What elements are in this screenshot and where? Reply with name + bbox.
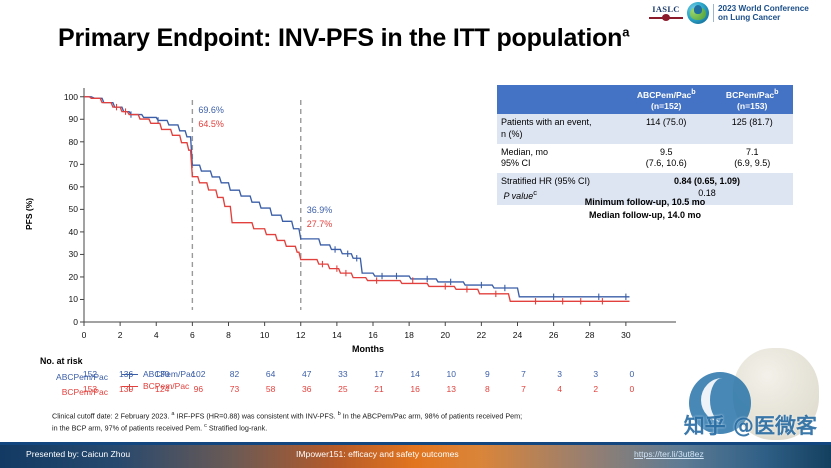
- risk-value: 14: [406, 369, 424, 379]
- header-col-bcpem-sup: b: [774, 88, 778, 96]
- presenter-name: Presented by: Caicun Zhou: [26, 449, 130, 459]
- row-label-median-l1: Median, mo: [501, 147, 548, 157]
- risk-value: 4: [551, 384, 569, 394]
- y-tick-70: 70: [56, 159, 78, 169]
- risk-value: 124: [153, 384, 171, 394]
- session-link[interactable]: https://ter.li/3ut8ez: [634, 449, 704, 459]
- risk-value: 21: [370, 384, 388, 394]
- x-tick-14: 14: [329, 330, 345, 340]
- risk-value: 102: [189, 369, 207, 379]
- row-median-bcpem-ci: (6.9, 9.5): [734, 158, 770, 168]
- y-tick-0: 0: [56, 317, 78, 327]
- risk-value: 8: [478, 384, 496, 394]
- y-tick-20: 20: [56, 272, 78, 282]
- risk-table-title: No. at risk: [40, 356, 740, 366]
- risk-row-label-abcpem: ABCPem/Pac: [40, 372, 114, 382]
- risk-value: 25: [334, 384, 352, 394]
- risk-value: 2: [587, 384, 605, 394]
- risk-value: 10: [442, 369, 460, 379]
- risk-value: 139: [117, 384, 135, 394]
- y-tick-50: 50: [56, 204, 78, 214]
- risk-value: 9: [478, 369, 496, 379]
- x-tick-4: 4: [148, 330, 164, 340]
- row-label-median: Median, mo 95% CI: [497, 144, 621, 173]
- x-tick-28: 28: [582, 330, 598, 340]
- y-tick-40: 40: [56, 227, 78, 237]
- table-row-events: Patients with an event, n (%) 114 (75.0)…: [497, 114, 793, 143]
- y-axis-label: PFS (%): [24, 198, 34, 230]
- y-tick-30: 30: [56, 249, 78, 259]
- risk-value: 36: [298, 384, 316, 394]
- x-tick-24: 24: [510, 330, 526, 340]
- x-tick-30: 30: [618, 330, 634, 340]
- efficacy-summary-table: ABCPem/Pacb (n=152) BCPem/Pacb (n=153) P…: [497, 85, 793, 205]
- row-label-events-l2: n (%): [501, 129, 523, 139]
- y-tick-60: 60: [56, 182, 78, 192]
- risk-value: 73: [226, 384, 244, 394]
- risk-value: 47: [298, 369, 316, 379]
- x-tick-26: 26: [546, 330, 562, 340]
- header-col-abcpem: ABCPem/Pacb (n=152): [621, 85, 711, 114]
- risk-value: 0: [623, 369, 641, 379]
- footnote-logrank: Stratified log-rank.: [207, 424, 267, 433]
- annotation-12mo-abcpem: 36.9%: [307, 205, 333, 215]
- risk-values-abcpem: 1521361301028264473317141097330: [114, 369, 740, 384]
- risk-value: 7: [515, 369, 533, 379]
- logo-divider: [713, 4, 714, 22]
- risk-row-bcpem: BCPem/Pac 153139124967358362521161387420: [40, 384, 740, 399]
- row-median-bcpem: 7.1 (6.9, 9.5): [711, 144, 793, 173]
- row-median-bcpem-v: 7.1: [746, 147, 759, 157]
- risk-value: 82: [226, 369, 244, 379]
- median-followup: Median follow-up, 14.0 mo: [497, 209, 793, 222]
- x-tick-20: 20: [437, 330, 453, 340]
- risk-value: 3: [551, 369, 569, 379]
- x-tick-18: 18: [401, 330, 417, 340]
- header-blank: [497, 85, 621, 114]
- risk-value: 0: [623, 384, 641, 394]
- risk-value: 13: [442, 384, 460, 394]
- row-label-events-l1: Patients with an event,: [501, 117, 592, 127]
- x-tick-8: 8: [221, 330, 237, 340]
- y-tick-80: 80: [56, 137, 78, 147]
- risk-value: 33: [334, 369, 352, 379]
- slide-root: IASLC 2023 World Conference on Lung Canc…: [0, 0, 831, 468]
- footnote-irf: IRF-PFS (HR=0.88) was consistent with IN…: [174, 411, 337, 420]
- risk-values-bcpem: 153139124967358362521161387420: [114, 384, 740, 399]
- session-title: IMpower151: efficacy and safety outcomes: [296, 449, 459, 459]
- number-at-risk-table: No. at risk ABCPem/Pac 15213613010282644…: [40, 356, 740, 399]
- x-tick-16: 16: [365, 330, 381, 340]
- row-events-abcpem: 114 (75.0): [621, 114, 711, 143]
- page-title-text: Primary Endpoint: INV-PFS in the ITT pop…: [58, 24, 622, 52]
- risk-value: 16: [406, 384, 424, 394]
- risk-value: 96: [189, 384, 207, 394]
- risk-value: 17: [370, 369, 388, 379]
- conference-logo-bar: IASLC 2023 World Conference on Lung Canc…: [645, 0, 831, 26]
- row-median-abcpem: 9.5 (7.6, 10.6): [621, 144, 711, 173]
- row-median-abcpem-v: 9.5: [660, 147, 673, 157]
- risk-value: 136: [117, 369, 135, 379]
- row-label-median-l2: 95% CI: [501, 158, 531, 168]
- risk-value: 3: [587, 369, 605, 379]
- slide-footer-bar: Presented by: Caicun Zhou IMpower151: ef…: [0, 442, 831, 468]
- x-axis-label: Months: [352, 344, 384, 354]
- followup-info: Minimum follow-up, 10.5 mo Median follow…: [497, 196, 793, 222]
- risk-value: 130: [153, 369, 171, 379]
- header-col-abcpem-sup: b: [691, 88, 695, 96]
- conference-line-1: 2023 World Conference: [718, 4, 809, 13]
- header-col-bcpem-name: BCPem/Pac: [726, 90, 774, 100]
- x-tick-6: 6: [184, 330, 200, 340]
- x-tick-10: 10: [257, 330, 273, 340]
- minimum-followup: Minimum follow-up, 10.5 mo: [497, 196, 793, 209]
- table-row-median: Median, mo 95% CI 9.5 (7.6, 10.6) 7.1 (6…: [497, 144, 793, 173]
- watermark-text: 知乎 @医微客: [684, 410, 817, 440]
- risk-value: 152: [81, 369, 99, 379]
- iaslc-mark-icon: [649, 14, 683, 21]
- annotation-6mo-bcpem: 64.5%: [198, 119, 224, 129]
- header-col-abcpem-name: ABCPem/Pac: [637, 90, 691, 100]
- y-tick-100: 100: [56, 92, 78, 102]
- risk-row-abcpem: ABCPem/Pac 15213613010282644733171410973…: [40, 369, 740, 384]
- footnote-pem-b: in the BCP arm, 97% of patients received…: [52, 424, 204, 433]
- row-events-bcpem: 125 (81.7): [711, 114, 793, 143]
- footnote-cutoff: Clinical cutoff date: 2 February 2023.: [52, 411, 171, 420]
- page-title: Primary Endpoint: INV-PFS in the ITT pop…: [58, 24, 629, 53]
- risk-row-label-bcpem: BCPem/Pac: [40, 387, 114, 397]
- x-tick-0: 0: [76, 330, 92, 340]
- conference-name: 2023 World Conference on Lung Cancer: [718, 4, 809, 23]
- risk-value: 58: [262, 384, 280, 394]
- header-col-bcpem: BCPem/Pacb (n=153): [711, 85, 793, 114]
- x-tick-12: 12: [293, 330, 309, 340]
- table-header-row: ABCPem/Pacb (n=152) BCPem/Pacb (n=153): [497, 85, 793, 114]
- footnote-pem-a: In the ABCPem/Pac arm, 98% of patients r…: [341, 411, 522, 420]
- row-label-events: Patients with an event, n (%): [497, 114, 621, 143]
- y-tick-10: 10: [56, 294, 78, 304]
- row-median-abcpem-ci: (7.6, 10.6): [646, 158, 687, 168]
- iaslc-label: IASLC: [652, 5, 679, 14]
- y-tick-90: 90: [56, 114, 78, 124]
- page-title-superscript: a: [622, 25, 629, 40]
- footnote: Clinical cutoff date: 2 February 2023. a…: [52, 410, 742, 434]
- iaslc-logo: IASLC: [649, 5, 683, 22]
- risk-value: 153: [81, 384, 99, 394]
- risk-value: 64: [262, 369, 280, 379]
- header-col-bcpem-n: (n=153): [737, 101, 767, 111]
- annotation-12mo-bcpem: 27.7%: [307, 219, 333, 229]
- x-tick-2: 2: [112, 330, 128, 340]
- row-label-hr-l1: Stratified HR (95% CI): [501, 176, 590, 186]
- conference-line-2: on Lung Cancer: [718, 13, 809, 22]
- hr-value-text: 0.84 (0.65, 1.09): [674, 176, 740, 186]
- annotation-6mo-abcpem: 69.6%: [198, 105, 224, 115]
- risk-value: 7: [515, 384, 533, 394]
- x-tick-22: 22: [473, 330, 489, 340]
- wclc-globe-icon: [687, 2, 709, 24]
- header-col-abcpem-n: (n=152): [651, 101, 681, 111]
